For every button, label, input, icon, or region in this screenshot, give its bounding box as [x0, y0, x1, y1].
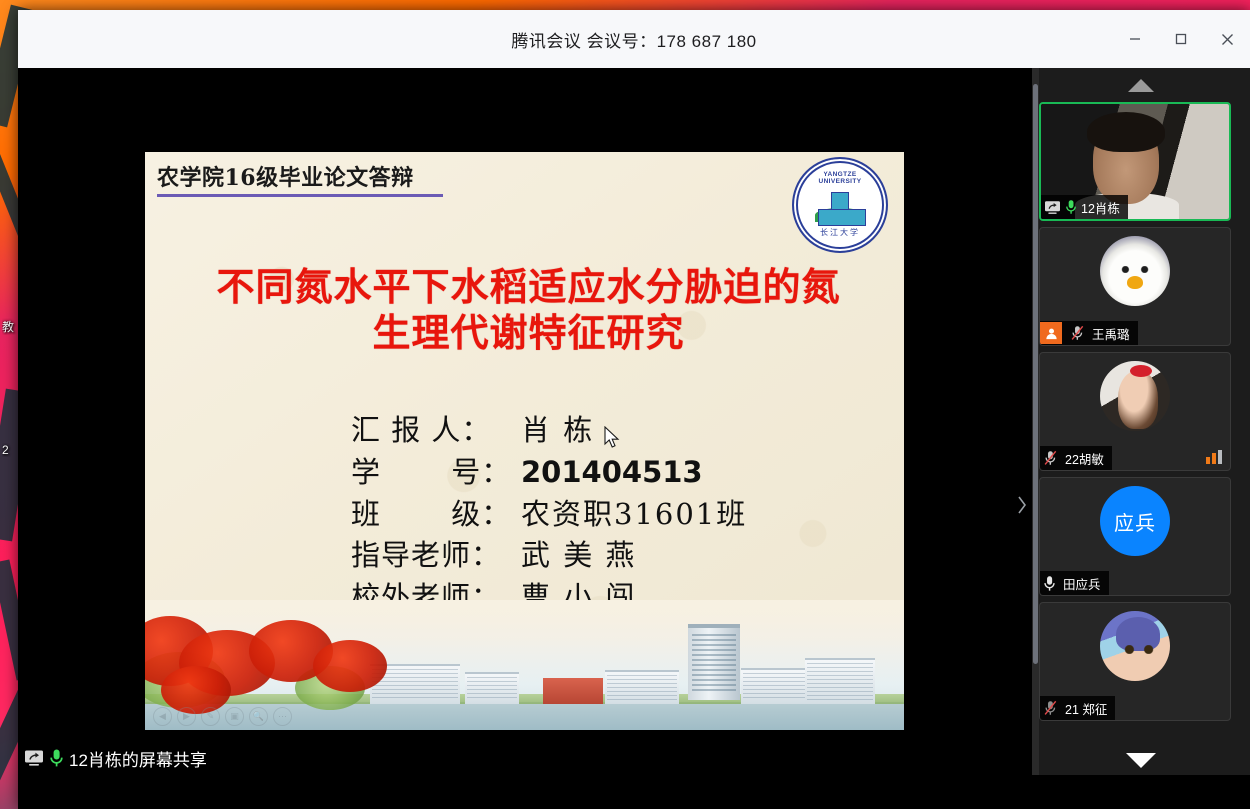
participant-avatar	[1100, 611, 1170, 681]
slide-header-rule	[157, 194, 443, 197]
media-more-icon[interactable]: ⋯	[273, 707, 292, 726]
info-label: 学 号：	[351, 452, 521, 494]
campus-building	[805, 658, 875, 704]
panel-collapse-button[interactable]	[1012, 483, 1032, 527]
participant-label: 21 郑征	[1040, 696, 1115, 720]
info-row-advisor: 指导老师： 武 美 燕	[351, 535, 747, 577]
participant-avatar	[1100, 236, 1170, 306]
participant-tile-2[interactable]: 王禹璐	[1039, 227, 1231, 346]
microphone-muted-icon	[1043, 700, 1058, 716]
participant-label: 12肖栋	[1041, 195, 1128, 219]
participant-tile-3[interactable]: 22胡敏	[1039, 352, 1231, 471]
scroll-down-button[interactable]	[1032, 747, 1250, 773]
presentation-slide: 农学院16级毕业论文答辩 YANGTZE UNIVERSITY 长江大学 不同氮…	[145, 152, 904, 730]
slide-title: 不同氮水平下水稻适应水分胁迫的氮 生理代谢特征研究	[175, 264, 882, 357]
close-button[interactable]	[1204, 10, 1250, 68]
microphone-icon	[1065, 199, 1077, 215]
info-value: 201404513	[521, 452, 703, 494]
screen-share-status-text: 12肖栋的屏幕共享	[69, 746, 207, 771]
title-bar[interactable]: 腾讯会议 会议号：178 687 180	[18, 10, 1250, 68]
info-row-student-id: 学 号： 201404513	[351, 452, 747, 494]
slide-header: 农学院16级毕业论文答辩	[157, 160, 447, 197]
triangle-down-icon	[1126, 753, 1156, 768]
minimize-icon	[1129, 33, 1141, 45]
participant-panel-scrollbar[interactable]	[1032, 68, 1039, 775]
university-logo-inner: YANGTZE UNIVERSITY 长江大学	[803, 168, 877, 242]
participant-name: 22胡敏	[1065, 449, 1104, 468]
university-logo-cn-text: 长江大学	[803, 227, 877, 238]
campus-flame-tree	[313, 640, 387, 692]
university-logo-ring-text: YANGTZE UNIVERSITY	[803, 171, 877, 185]
info-label: 班 级：	[351, 494, 521, 536]
microphone-icon	[49, 748, 64, 768]
media-prev-icon[interactable]: ◀	[153, 707, 172, 726]
minimize-button[interactable]	[1112, 10, 1158, 68]
media-screen-icon[interactable]: ▣	[225, 707, 244, 726]
participant-tile-4[interactable]: 应兵 田应兵	[1039, 477, 1231, 596]
info-value: 农资职31601班	[521, 494, 747, 536]
media-play-icon[interactable]: ▶	[177, 707, 196, 726]
microphone-muted-icon	[1070, 325, 1085, 341]
tencent-meeting-window: 腾讯会议 会议号：178 687 180	[18, 10, 1250, 809]
info-value: 肖 栋	[521, 410, 594, 452]
campus-tower-building	[688, 624, 740, 700]
info-row-class: 班 级： 农资职31601班	[351, 494, 747, 536]
slide-media-controls[interactable]: ◀ ▶ ✎ ▣ 🔍 ⋯	[153, 707, 292, 726]
video-person-hair	[1087, 112, 1165, 152]
signal-bar	[1212, 453, 1216, 464]
campus-panorama-image: ◀ ▶ ✎ ▣ 🔍 ⋯	[145, 600, 904, 730]
window-title: 腾讯会议 会议号：178 687 180	[511, 27, 756, 52]
screen-share-icon	[1044, 200, 1061, 215]
mouse-cursor	[604, 426, 621, 455]
participant-avatar	[1100, 361, 1170, 431]
media-zoom-icon[interactable]: 🔍	[249, 707, 268, 726]
shared-screen-stage[interactable]: 农学院16级毕业论文答辩 YANGTZE UNIVERSITY 长江大学 不同氮…	[18, 68, 1032, 775]
screen-share-status-bar: 12肖栋的屏幕共享	[18, 741, 1032, 775]
slide-title-line2: 生理代谢特征研究	[175, 310, 882, 356]
info-value: 武 美 燕	[521, 535, 636, 577]
participant-label: 王禹璐	[1040, 321, 1138, 345]
info-label: 指导老师：	[351, 535, 521, 577]
window-controls	[1112, 10, 1250, 68]
participant-tiles: 12肖栋	[1039, 102, 1235, 727]
media-pen-icon[interactable]: ✎	[201, 707, 220, 726]
cursor-arrow-icon	[604, 426, 621, 450]
slide-title-line1: 不同氮水平下水稻适应水分胁迫的氮	[175, 264, 882, 310]
participant-label: 田应兵	[1040, 571, 1109, 595]
participant-badge-icon	[1040, 322, 1062, 344]
info-row-presenter: 汇 报 人： 肖 栋	[351, 410, 747, 452]
participant-avatar: 应兵	[1100, 486, 1170, 556]
maximize-button[interactable]	[1158, 10, 1204, 68]
university-logo-building	[831, 192, 849, 222]
signal-bar	[1206, 457, 1210, 464]
participant-tile-1[interactable]: 12肖栋	[1039, 102, 1231, 221]
slide-header-text: 农学院16级毕业论文答辩	[157, 160, 447, 192]
microphone-muted-icon	[1043, 450, 1058, 466]
participant-name: 田应兵	[1063, 574, 1101, 593]
triangle-up-icon	[1128, 79, 1154, 92]
slide-info-block: 汇 报 人： 肖 栋 学 号： 201404513 班 级： 农资职31601班…	[351, 410, 747, 619]
info-label: 汇 报 人：	[351, 410, 521, 452]
meeting-body: 农学院16级毕业论文答辩 YANGTZE UNIVERSITY 长江大学 不同氮…	[18, 68, 1250, 809]
campus-building	[465, 672, 519, 704]
microphone-icon	[1043, 575, 1056, 592]
screen-share-icon	[24, 749, 44, 767]
campus-building	[605, 670, 679, 704]
signal-strength-icon	[1206, 450, 1222, 464]
participant-tile-5[interactable]: 21 郑征	[1039, 602, 1231, 721]
maximize-icon	[1175, 33, 1187, 45]
participant-name: 21 郑征	[1065, 699, 1107, 718]
signal-bar	[1218, 450, 1222, 464]
chevron-right-icon	[1016, 494, 1028, 516]
participant-name: 王禹璐	[1092, 324, 1130, 343]
close-icon	[1221, 33, 1234, 46]
participant-label: 22胡敏	[1040, 446, 1112, 470]
participant-panel: 12肖栋	[1032, 68, 1250, 775]
scroll-up-button[interactable]	[1032, 68, 1250, 102]
participant-name: 12肖栋	[1081, 198, 1120, 217]
scrollbar-thumb[interactable]	[1033, 84, 1038, 664]
campus-building	[543, 678, 603, 704]
university-logo: YANGTZE UNIVERSITY 长江大学	[792, 157, 888, 253]
